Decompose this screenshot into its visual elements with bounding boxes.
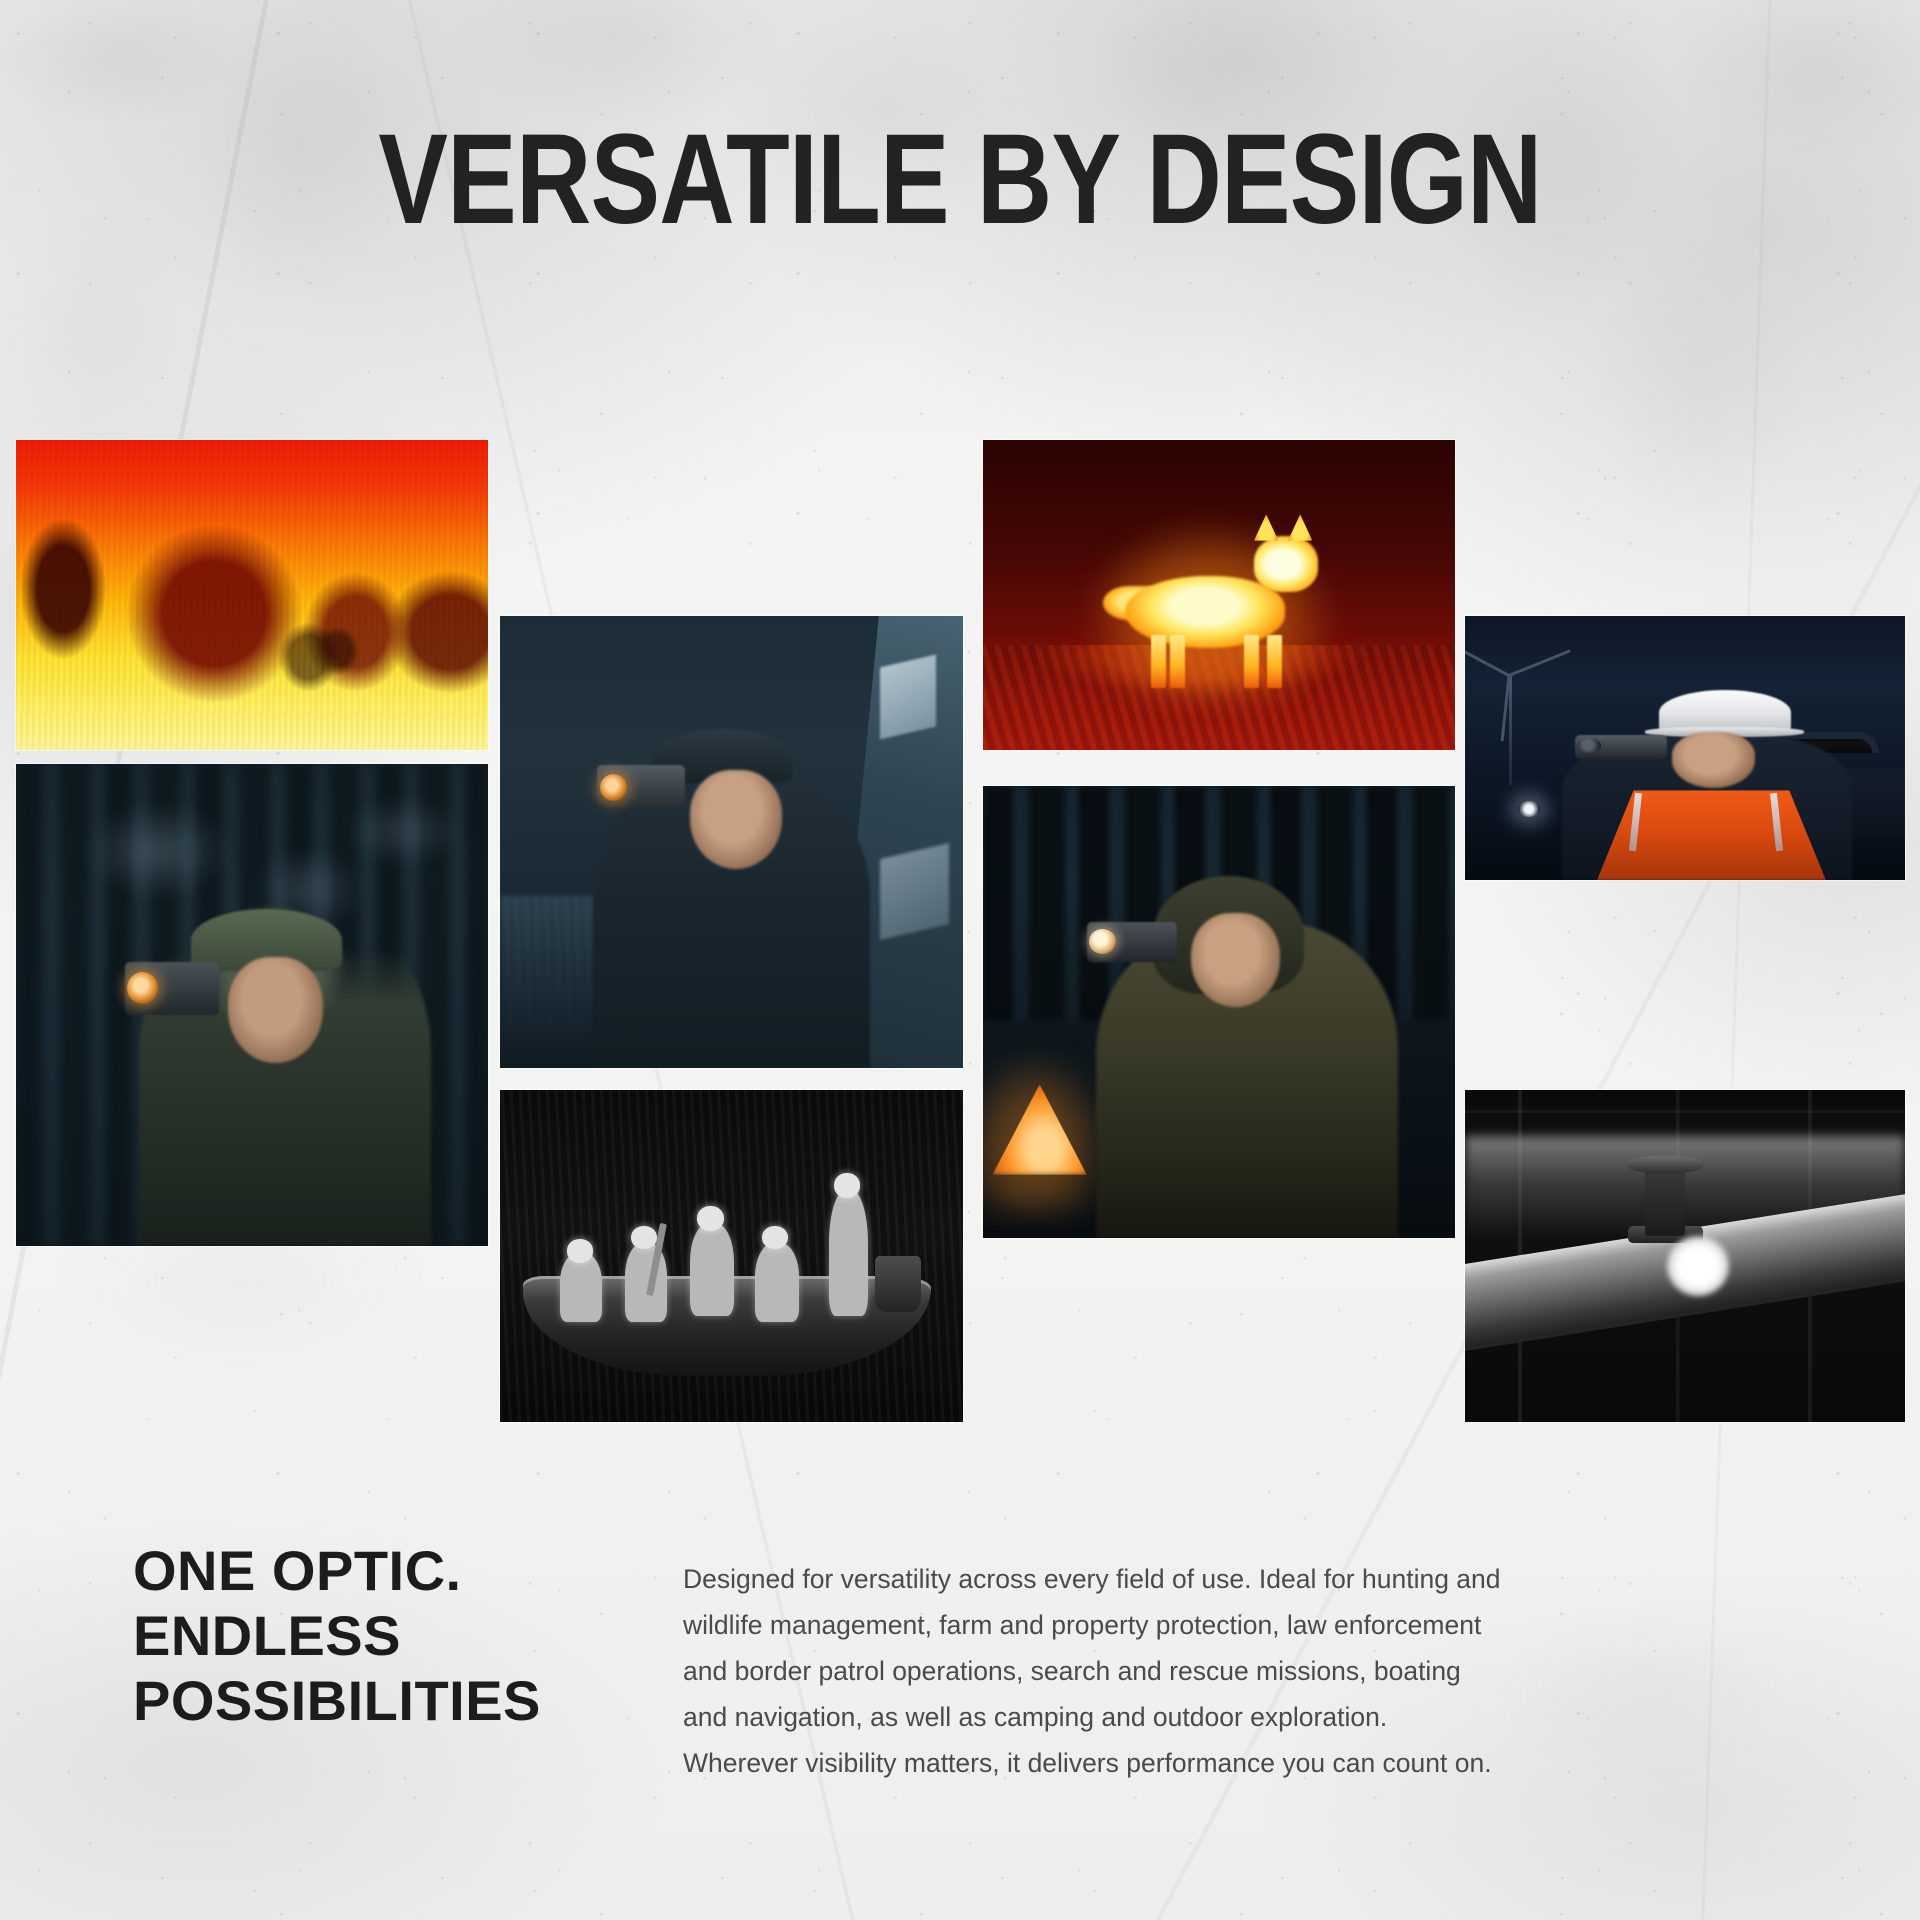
camper-face bbox=[1191, 913, 1281, 1008]
monocular-lens-glow bbox=[127, 972, 158, 1004]
maritime-watch-image bbox=[500, 616, 963, 1068]
body-copy-line: Designed for versatility across every fi… bbox=[683, 1556, 1473, 1602]
body-copy-line: Wherever visibility matters, it delivers… bbox=[683, 1740, 1473, 1786]
gallery-tile-thermal-fox[interactable] bbox=[983, 440, 1455, 750]
wind-turbine-blade bbox=[1509, 649, 1571, 677]
body-copy-line: and border patrol operations, search and… bbox=[683, 1648, 1473, 1694]
gallery-tile-maritime-watch[interactable] bbox=[500, 616, 963, 1068]
thermal-person-standing bbox=[829, 1190, 868, 1316]
wind-turbine-mast bbox=[1509, 674, 1512, 785]
footer-headline: ONE OPTIC. ENDLESS POSSIBILITIES bbox=[133, 1539, 693, 1734]
site-floodlight bbox=[1518, 801, 1540, 817]
night-hunter-forest-image bbox=[16, 764, 488, 1246]
thermal-pipeline-image bbox=[1465, 1090, 1905, 1422]
fox-body bbox=[1125, 576, 1285, 647]
thermal-fox-image bbox=[983, 440, 1455, 750]
bridge-window-lower bbox=[880, 843, 949, 940]
thermal-person bbox=[690, 1223, 734, 1316]
wind-turbine-blade bbox=[1465, 643, 1510, 677]
thermal-person-head bbox=[567, 1239, 593, 1262]
hunter-face bbox=[228, 957, 322, 1063]
bridge-window bbox=[880, 655, 936, 740]
thermal-outboard-motor bbox=[875, 1256, 921, 1312]
footer-headline-line: POSSIBILITIES bbox=[133, 1669, 693, 1734]
gallery-tile-camper-tent-night[interactable] bbox=[983, 786, 1455, 1238]
thermal-person bbox=[755, 1243, 799, 1323]
monocular-lens-glow bbox=[1089, 929, 1115, 954]
gallery-tile-industrial-inspector[interactable] bbox=[1465, 616, 1905, 880]
footer-headline-line: ONE OPTIC. bbox=[133, 1539, 693, 1604]
gallery-tile-thermal-boars[interactable] bbox=[16, 440, 488, 750]
gallery-tile-thermal-boat-crew[interactable] bbox=[500, 1090, 963, 1422]
footer-body-copy: Designed for versatility across every fi… bbox=[683, 1556, 1473, 1786]
fox-leg bbox=[1267, 635, 1283, 688]
gallery-tile-thermal-pipeline[interactable] bbox=[1465, 1090, 1905, 1422]
thermal-person-head bbox=[834, 1173, 860, 1198]
body-copy-line: and navigation, as well as camping and o… bbox=[683, 1694, 1473, 1740]
thermal-person bbox=[560, 1253, 602, 1323]
thermal-boat-crew-image bbox=[500, 1090, 963, 1422]
mariner-face bbox=[690, 770, 783, 869]
valve-body bbox=[1645, 1166, 1685, 1236]
valve-handle bbox=[1628, 1156, 1703, 1173]
monocular-lens bbox=[1577, 738, 1601, 752]
industrial-inspector-image bbox=[1465, 616, 1905, 880]
fox-leg bbox=[1244, 635, 1260, 688]
fox-leg bbox=[1151, 635, 1167, 688]
body-copy-line: wildlife management, farm and property p… bbox=[683, 1602, 1473, 1648]
thermal-boars-image bbox=[16, 440, 488, 750]
thermal-person-head bbox=[762, 1226, 788, 1249]
fox-leg bbox=[1170, 635, 1186, 688]
worker-face bbox=[1672, 732, 1756, 787]
footer-headline-line: ENDLESS bbox=[133, 1604, 693, 1669]
fox-head bbox=[1254, 536, 1318, 592]
camper-tent-night-image bbox=[983, 786, 1455, 1238]
thermal-hot-spot bbox=[1667, 1236, 1729, 1296]
gallery-tile-night-hunter-forest[interactable] bbox=[16, 764, 488, 1246]
thermal-person-head bbox=[697, 1206, 724, 1231]
